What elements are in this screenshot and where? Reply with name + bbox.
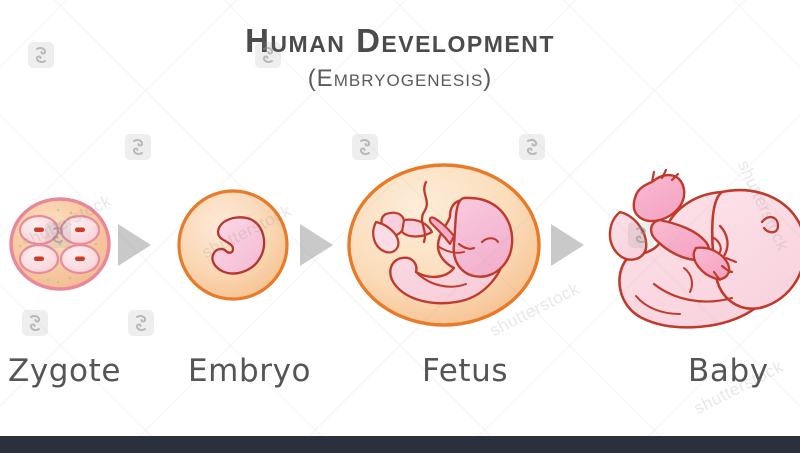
illustration-canvas: Human Development (Embryogenesis) <box>0 0 800 453</box>
shutterstock-logo-icon <box>22 310 48 336</box>
fetus-illustration <box>346 160 542 335</box>
page-title: Human Development <box>0 24 800 59</box>
embryo-illustration <box>176 189 290 306</box>
shutterstock-logo-icon <box>125 134 151 160</box>
stage-label-fetus: Fetus <box>422 353 508 389</box>
bottom-bar <box>0 436 800 453</box>
shutterstock-logo-icon <box>352 134 378 160</box>
zygote-svg <box>8 196 112 292</box>
baby-svg <box>596 164 800 336</box>
shutterstock-logo-icon <box>128 310 154 336</box>
arrow-fetus-to-baby <box>551 224 584 266</box>
stage-label-embryo: Embryo <box>188 353 311 389</box>
stage-label-baby: Baby <box>688 353 769 389</box>
shutterstock-logo-icon <box>519 134 545 160</box>
stage-label-zygote: Zygote <box>8 353 121 389</box>
baby-illustration <box>596 164 800 341</box>
fetus-svg <box>346 160 542 330</box>
page-subtitle: (Embryogenesis) <box>0 65 800 93</box>
zygote-illustration <box>8 196 112 297</box>
arrow-embryo-to-fetus <box>300 224 333 266</box>
embryo-svg <box>176 189 290 301</box>
arrow-zygote-to-embryo <box>118 224 151 266</box>
title-block: Human Development (Embryogenesis) <box>0 24 800 93</box>
